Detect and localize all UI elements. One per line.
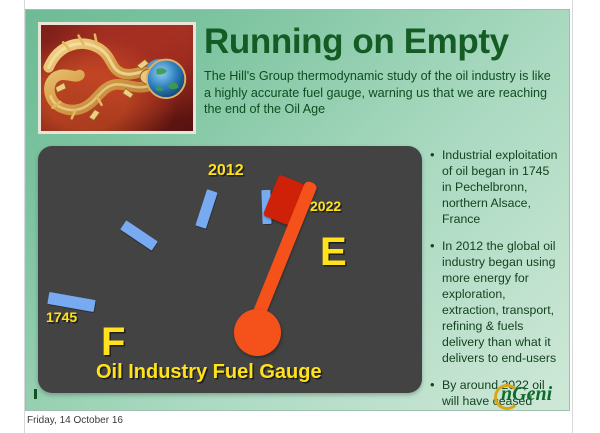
right-margin — [572, 0, 600, 433]
list-item: Industrial exploitation of oil began in … — [430, 148, 562, 228]
subtitle: The Hill's Group thermodynamic study of … — [204, 68, 556, 118]
gauge-caption: Oil Industry Fuel Gauge — [96, 361, 322, 384]
gauge-label-2012: 2012 — [208, 162, 244, 180]
logo-text: nGeni — [501, 383, 552, 406]
gauge-tick-3 — [195, 189, 217, 229]
gauge-label-1745: 1745 — [46, 309, 77, 325]
left-margin — [0, 0, 25, 433]
dragon-illustration — [41, 25, 193, 133]
ngeni-logo: nGeni — [496, 384, 562, 408]
fuel-gauge-panel: 2012 2022 1745 F E Oil Industry Fuel Gau… — [38, 146, 422, 393]
footer-date: Friday, 14 October 16 — [27, 415, 123, 426]
slide-corner-mark — [34, 389, 37, 399]
gauge-needle-hub — [234, 309, 281, 356]
bullet-list: Industrial exploitation of oil began in … — [430, 148, 562, 411]
logo-text-n: n — [501, 383, 512, 405]
gauge-label-empty: E — [320, 230, 347, 275]
slide: Running on Empty The Hill's Group thermo… — [25, 9, 570, 411]
list-item: In 2012 the global oil industry began us… — [430, 239, 562, 367]
screenshot-root: Running on Empty The Hill's Group thermo… — [0, 0, 600, 433]
logo-text-geni: Geni — [512, 383, 552, 405]
gauge-label-2022: 2022 — [310, 198, 341, 214]
page-title: Running on Empty — [204, 24, 562, 60]
dragon-earth-image — [38, 22, 196, 134]
gauge-tick-2 — [120, 220, 158, 250]
gauge-label-full: F — [101, 320, 125, 365]
